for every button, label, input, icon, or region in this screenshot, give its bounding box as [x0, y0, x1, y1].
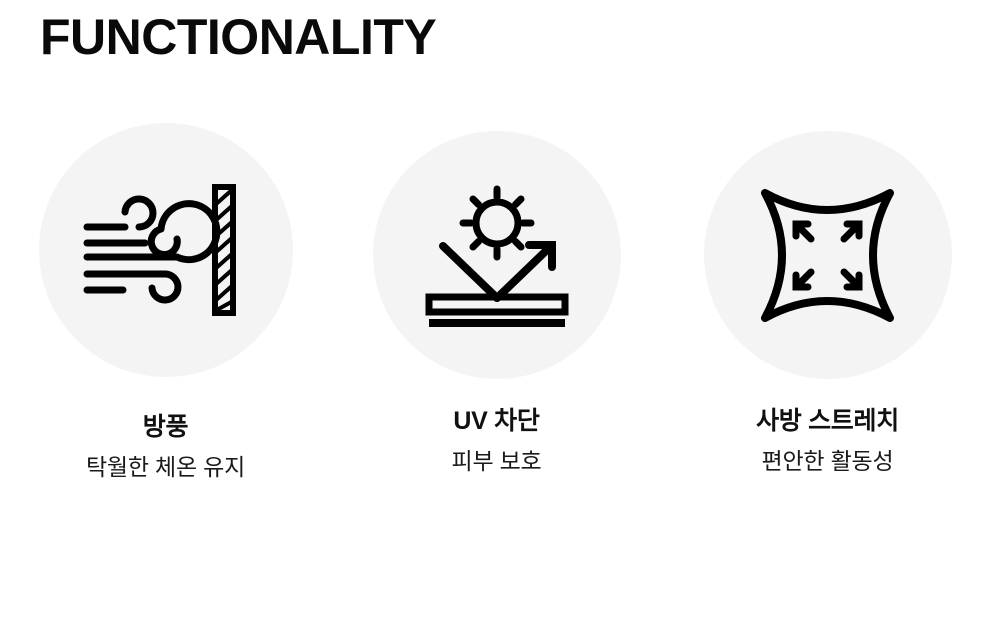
feature-description: 탁월한 체온 유지 — [86, 452, 245, 482]
feature-list: 방풍 탁월한 체온 유지 — [0, 123, 1000, 482]
feature-title: 방풍 — [143, 411, 188, 443]
icon-circle-stretch — [704, 131, 952, 379]
feature-item-uv-block: UV 차단 피부 보호 — [331, 123, 662, 476]
feature-item-stretch: 사방 스트레치 편안한 활동성 — [662, 123, 993, 476]
page-title: FUNCTIONALITY — [40, 6, 436, 68]
feature-description: 편안한 활동성 — [762, 446, 894, 476]
four-way-stretch-icon — [755, 183, 900, 328]
feature-title: UV 차단 — [453, 405, 539, 437]
icon-circle-windproof — [39, 123, 293, 377]
uv-block-icon — [417, 175, 577, 335]
feature-item-windproof: 방풍 탁월한 체온 유지 — [0, 123, 331, 482]
icon-circle-uv-block — [373, 131, 621, 379]
functionality-section: FUNCTIONALITY — [0, 0, 1000, 644]
windproof-icon — [81, 175, 251, 325]
feature-description: 피부 보호 — [451, 446, 541, 476]
feature-title: 사방 스트레치 — [756, 405, 899, 437]
